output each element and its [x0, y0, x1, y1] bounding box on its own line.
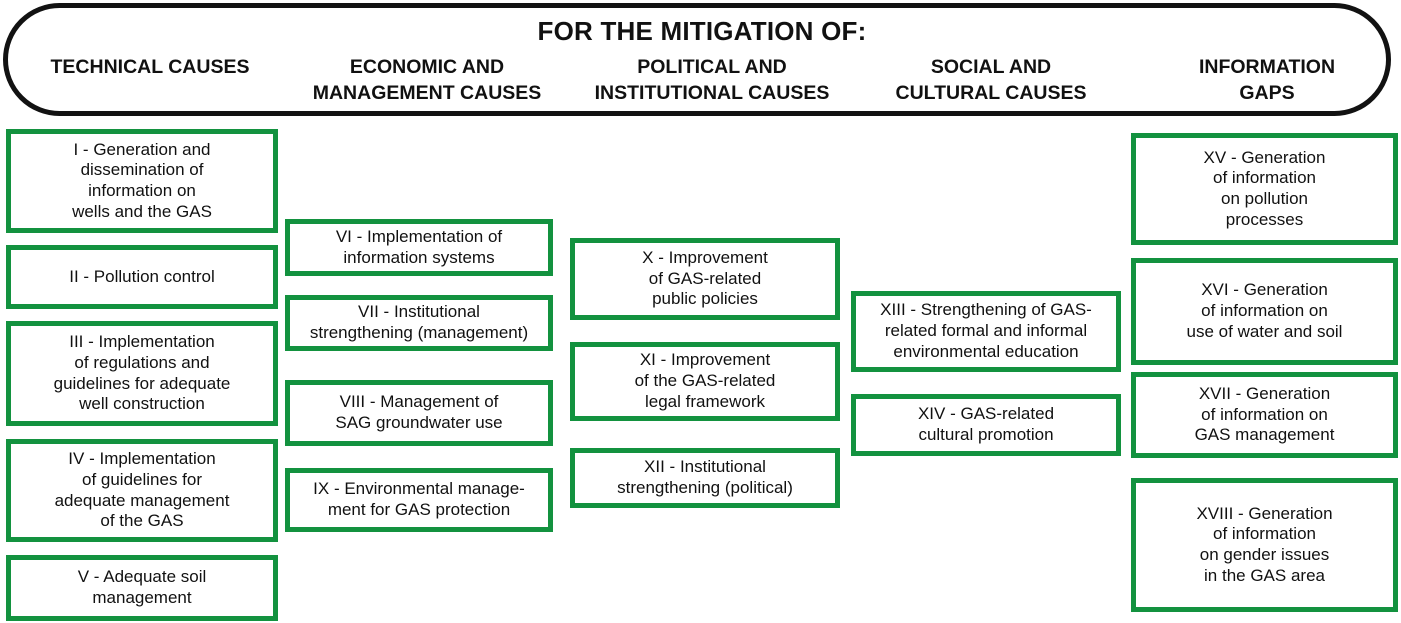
measure-box-vi-label: VI - Implementation ofinformation system…	[295, 227, 543, 268]
measure-box-xiii-label: XIII - Strengthening of GAS-related form…	[861, 300, 1111, 362]
measure-box-iii[interactable]: III - Implementationof regulations andgu…	[6, 321, 278, 426]
measure-box-xvi-label: XVI - Generationof information onuse of …	[1141, 280, 1388, 342]
measure-box-xi[interactable]: XI - Improvementof the GAS-relatedlegal …	[570, 342, 840, 421]
measure-box-iii-label: III - Implementationof regulations andgu…	[16, 332, 268, 415]
measure-box-x[interactable]: X - Improvementof GAS-relatedpublic poli…	[570, 238, 840, 320]
measure-box-xvii[interactable]: XVII - Generationof information onGAS ma…	[1131, 372, 1398, 458]
column-heading-social: SOCIAL ANDCULTURAL CAUSES	[856, 54, 1126, 107]
measure-box-xvi[interactable]: XVI - Generationof information onuse of …	[1131, 258, 1398, 365]
measure-box-vi[interactable]: VI - Implementation ofinformation system…	[285, 219, 553, 276]
measure-box-v-label: V - Adequate soilmanagement	[16, 567, 268, 608]
measure-box-ii-label: II - Pollution control	[16, 267, 268, 288]
measure-box-xiv[interactable]: XIV - GAS-relatedcultural promotion	[851, 394, 1121, 456]
measure-box-xviii-label: XVIII - Generationof informationon gende…	[1141, 504, 1388, 587]
column-heading-information: INFORMATIONGAPS	[1132, 54, 1401, 107]
measure-box-xvii-label: XVII - Generationof information onGAS ma…	[1141, 384, 1388, 446]
measure-box-iv[interactable]: IV - Implementationof guidelines foradeq…	[6, 439, 278, 542]
diagram-canvas: FOR THE MITIGATION OF: TECHNICAL CAUSES …	[0, 0, 1401, 623]
measure-box-i[interactable]: I - Generation anddissemination ofinform…	[6, 129, 278, 233]
measure-box-viii-label: VIII - Management ofSAG groundwater use	[295, 392, 543, 433]
measure-box-i-label: I - Generation anddissemination ofinform…	[16, 140, 268, 223]
measure-box-xiv-label: XIV - GAS-relatedcultural promotion	[861, 404, 1111, 445]
measure-box-xv-label: XV - Generationof informationon pollutio…	[1141, 148, 1388, 231]
column-heading-technical: TECHNICAL CAUSES	[14, 54, 286, 80]
measure-box-xii-label: XII - Institutionalstrengthening (politi…	[580, 457, 830, 498]
measure-box-v[interactable]: V - Adequate soilmanagement	[6, 555, 278, 621]
measure-box-iv-label: IV - Implementationof guidelines foradeq…	[16, 449, 268, 532]
measure-box-ix-label: IX - Environmental manage-ment for GAS p…	[295, 479, 543, 520]
measure-box-viii[interactable]: VIII - Management ofSAG groundwater use	[285, 380, 553, 446]
measure-box-xv[interactable]: XV - Generationof informationon pollutio…	[1131, 133, 1398, 245]
measure-box-ix[interactable]: IX - Environmental manage-ment for GAS p…	[285, 468, 553, 532]
measure-box-ii[interactable]: II - Pollution control	[6, 245, 278, 309]
measure-box-vii[interactable]: VII - Institutionalstrengthening (manage…	[285, 295, 553, 351]
header-capsule: FOR THE MITIGATION OF: TECHNICAL CAUSES …	[3, 3, 1391, 116]
measure-box-xiii[interactable]: XIII - Strengthening of GAS-related form…	[851, 291, 1121, 372]
measure-box-xii[interactable]: XII - Institutionalstrengthening (politi…	[570, 448, 840, 508]
measure-box-vii-label: VII - Institutionalstrengthening (manage…	[295, 302, 543, 343]
measure-box-x-label: X - Improvementof GAS-relatedpublic poli…	[580, 248, 830, 310]
measure-box-xi-label: XI - Improvementof the GAS-relatedlegal …	[580, 350, 830, 412]
column-heading-economic: ECONOMIC ANDMANAGEMENT CAUSES	[294, 54, 560, 107]
column-heading-political: POLITICAL ANDINSTITUTIONAL CAUSES	[570, 54, 854, 107]
page-title: FOR THE MITIGATION OF:	[8, 16, 1396, 47]
measure-box-xviii[interactable]: XVIII - Generationof informationon gende…	[1131, 478, 1398, 612]
